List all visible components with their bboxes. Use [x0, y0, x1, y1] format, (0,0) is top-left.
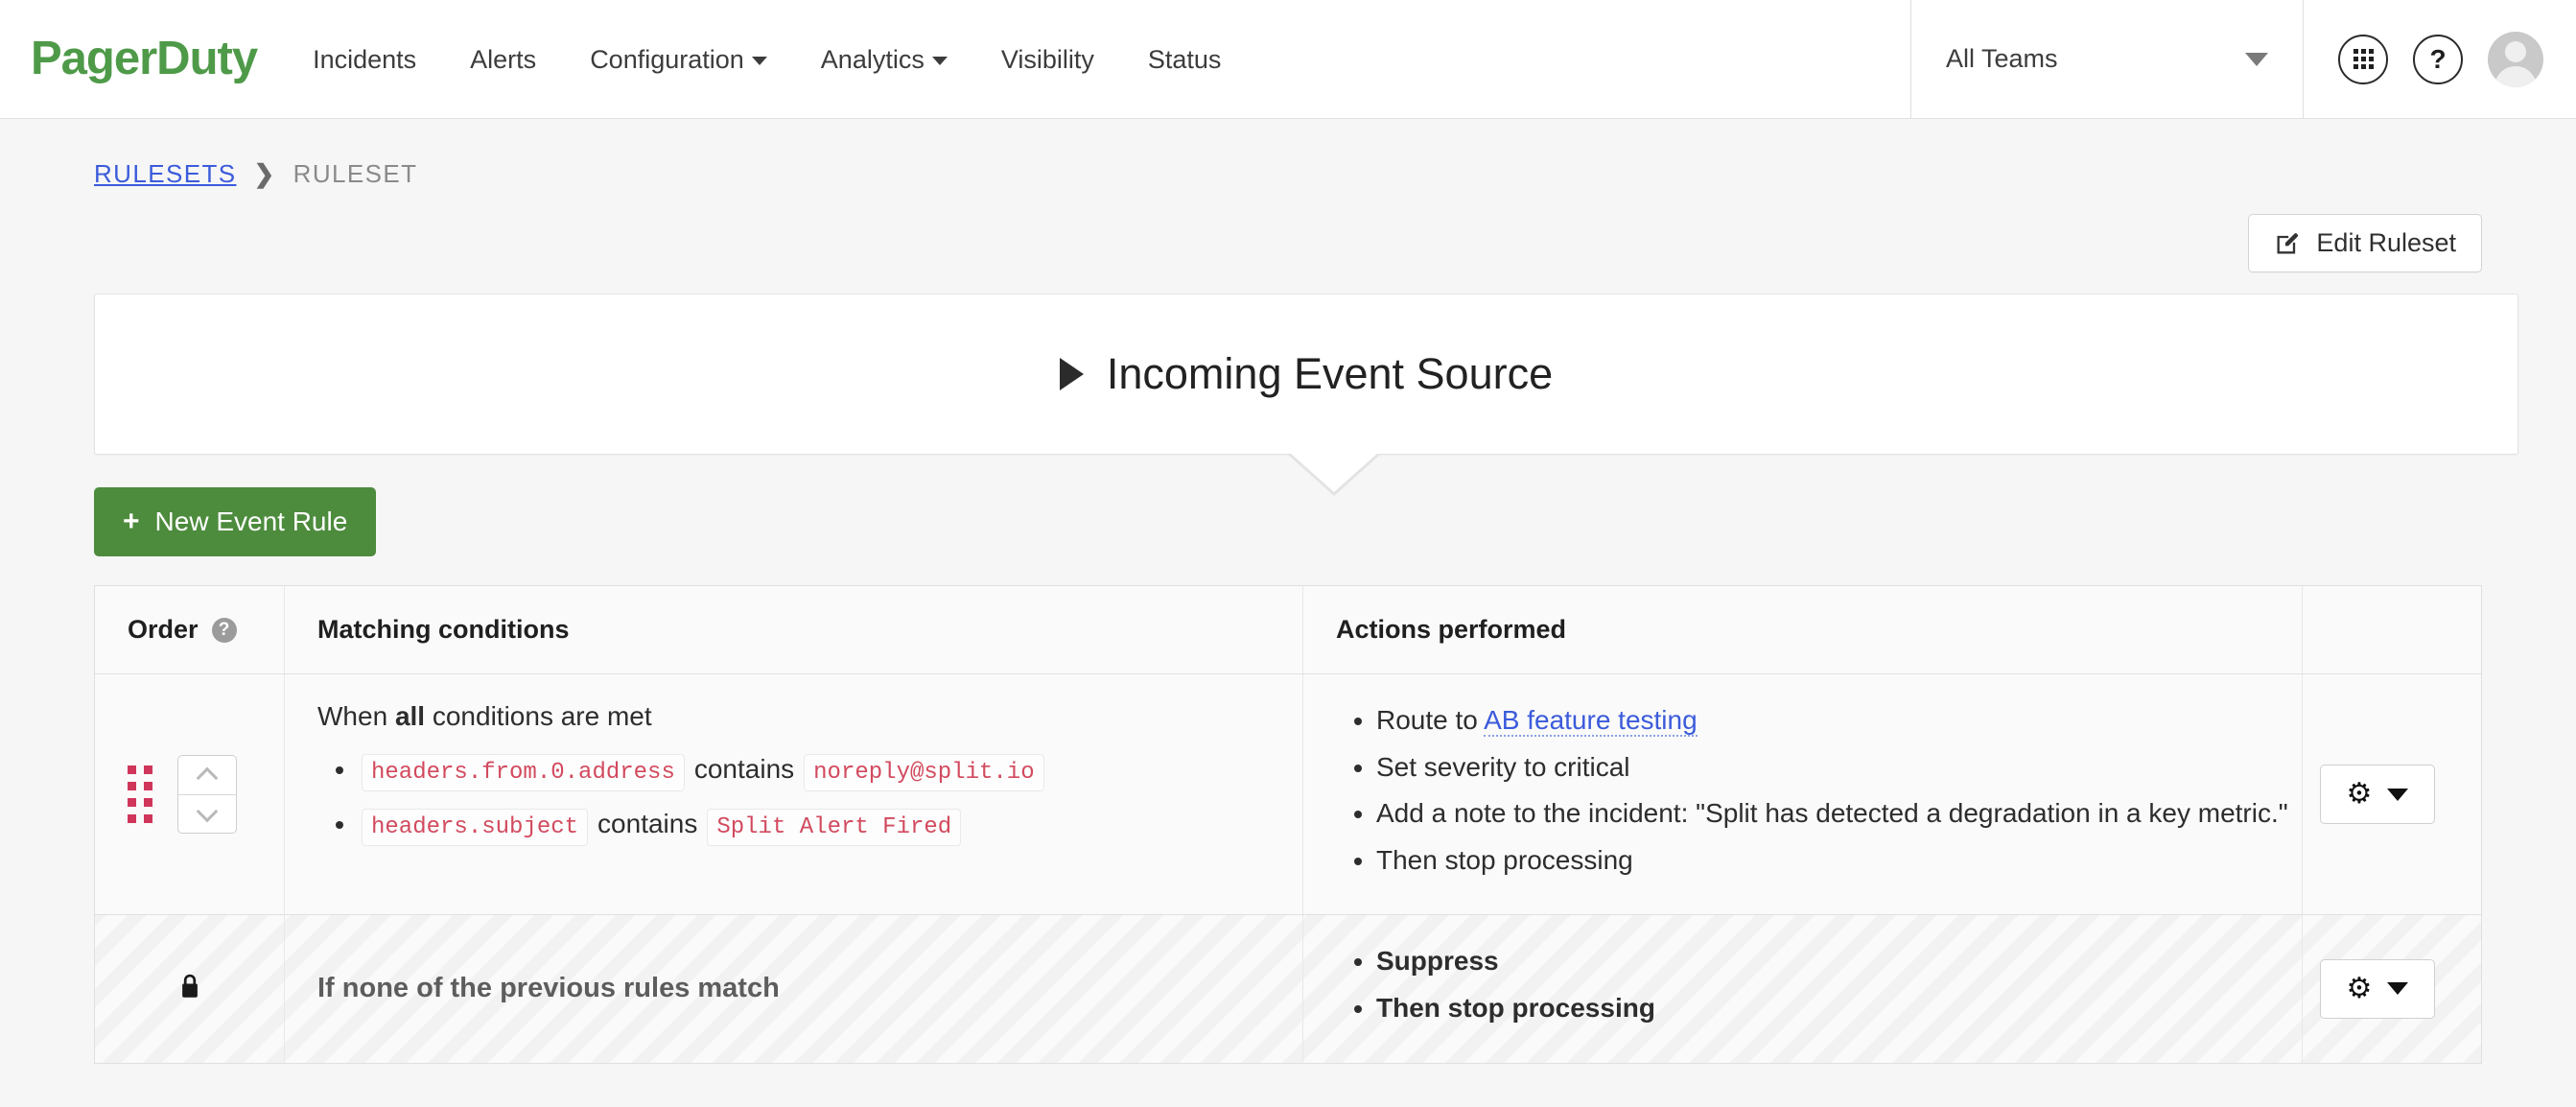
nav-item-configuration-label: Configuration — [590, 45, 744, 74]
table-header-row: Order ? Matching conditions Actions perf… — [95, 586, 2481, 674]
pencil-square-icon — [2274, 230, 2301, 257]
row-settings-menu-button[interactable]: ⚙ — [2320, 765, 2435, 824]
nav-item-visibility-label: Visibility — [1001, 45, 1094, 74]
event-rules-table: Order ? Matching conditions Actions perf… — [94, 585, 2482, 1064]
breadcrumb-link-rulesets[interactable]: RULESETS — [94, 159, 236, 189]
card-tail-fill — [1290, 453, 1378, 492]
condition-field: headers.from.0.address — [362, 754, 685, 791]
drag-handle-icon[interactable] — [128, 765, 152, 823]
nav-item-status-label: Status — [1148, 45, 1222, 74]
condition-value: noreply@split.io — [804, 754, 1043, 791]
gear-icon: ⚙ — [2347, 975, 2373, 1003]
grid-apps-icon — [2354, 49, 2374, 69]
incoming-event-source-toggle[interactable]: Incoming Event Source — [1060, 349, 1553, 399]
question-mark-icon: ? — [2429, 46, 2446, 73]
breadcrumb-current-ruleset: RULESET — [293, 159, 418, 189]
apps-grid-button[interactable] — [2338, 35, 2388, 84]
table-row: If none of the previous rules match Supp… — [95, 915, 2481, 1063]
nav-item-visibility[interactable]: Visibility — [974, 0, 1121, 119]
column-header-actions-performed: Actions performed — [1303, 586, 2303, 673]
chevron-down-icon — [932, 57, 948, 65]
row-menu-cell: ⚙ — [2303, 674, 2481, 914]
help-button[interactable]: ? — [2413, 35, 2463, 84]
matching-conditions-cell: When all conditions are met headers.from… — [285, 674, 1303, 914]
action-text: Route to — [1376, 705, 1484, 735]
nav-item-alerts[interactable]: Alerts — [443, 0, 563, 119]
list-item: headers.from.0.addresscontainsnoreply@sp… — [358, 749, 1302, 790]
column-header-actions-performed-label: Actions performed — [1336, 615, 1566, 645]
teams-filter-value: All Teams — [1946, 44, 2058, 74]
list-item: Then stop processing — [1376, 989, 2302, 1028]
caret-down-icon — [2387, 789, 2408, 801]
column-header-matching-conditions: Matching conditions — [285, 586, 1303, 673]
nav-item-incidents[interactable]: Incidents — [286, 0, 443, 119]
condition-operator: contains — [694, 754, 794, 784]
default-action-list: Suppress Then stop processing — [1336, 942, 2302, 1027]
caret-down-icon — [2387, 982, 2408, 995]
move-down-button[interactable] — [178, 794, 236, 833]
column-header-menu — [2303, 586, 2481, 673]
condition-field: headers.subject — [362, 809, 588, 846]
logo-container[interactable]: PagerDuty — [0, 0, 286, 118]
nav-item-configuration[interactable]: Configuration — [563, 0, 794, 119]
breadcrumb: RULESETS ❯ RULESET — [0, 119, 2576, 189]
teams-filter-dropdown[interactable]: All Teams — [1910, 0, 2304, 118]
condition-list: headers.from.0.addresscontainsnoreply@sp… — [317, 749, 1302, 845]
list-item: Set severity to critical — [1376, 748, 2302, 788]
chevron-down-icon — [752, 57, 767, 65]
default-row-settings-menu-button[interactable]: ⚙ — [2320, 959, 2435, 1019]
question-circle-icon[interactable]: ? — [212, 618, 237, 643]
toolbar: Edit Ruleset — [0, 214, 2576, 272]
column-header-order: Order ? — [95, 586, 285, 673]
actions-performed-cell: Route to AB feature testing Set severity… — [1303, 674, 2303, 914]
incoming-event-source-title: Incoming Event Source — [1107, 349, 1553, 399]
list-item: Suppress — [1376, 942, 2302, 981]
nav-item-analytics-label: Analytics — [821, 45, 925, 74]
chevron-right-icon: ❯ — [253, 159, 275, 189]
main-content: RULESETS ❯ RULESET Edit Ruleset Incoming… — [0, 119, 2576, 1064]
column-header-order-label: Order — [128, 615, 199, 645]
default-row-menu-cell: ⚙ — [2303, 915, 2481, 1062]
top-navigation-bar: PagerDuty Incidents Alerts Configuration… — [0, 0, 2576, 119]
plus-icon: + — [123, 507, 140, 536]
primary-nav-items: Incidents Alerts Configuration Analytics… — [286, 0, 1910, 118]
locked-order-cell — [95, 915, 285, 1062]
nav-item-analytics[interactable]: Analytics — [794, 0, 974, 119]
table-row: When all conditions are met headers.from… — [95, 674, 2481, 915]
lock-icon — [176, 971, 204, 1006]
move-up-button[interactable] — [178, 756, 236, 794]
condition-operator: contains — [597, 809, 697, 838]
gear-icon: ⚙ — [2347, 780, 2373, 809]
column-header-matching-conditions-label: Matching conditions — [317, 615, 570, 645]
new-event-rule-button[interactable]: + New Event Rule — [94, 487, 376, 556]
nav-item-alerts-label: Alerts — [470, 45, 536, 74]
nav-item-incidents-label: Incidents — [313, 45, 416, 74]
lock-icon-svg — [176, 971, 204, 1001]
chevron-up-icon — [197, 767, 219, 789]
action-list: Route to AB feature testing Set severity… — [1336, 701, 2302, 880]
order-cell — [95, 674, 285, 914]
edit-ruleset-button[interactable]: Edit Ruleset — [2248, 214, 2482, 272]
list-item: Route to AB feature testing — [1376, 701, 2302, 741]
edit-ruleset-label: Edit Ruleset — [2316, 228, 2456, 258]
route-target-link[interactable]: AB feature testing — [1484, 705, 1698, 737]
triangle-right-icon — [1060, 358, 1084, 390]
when-prefix: When — [317, 701, 395, 731]
pagerduty-logo[interactable]: PagerDuty — [31, 35, 257, 82]
nav-right-actions: ? — [2304, 0, 2576, 118]
list-item: headers.subjectcontainsSplit Alert Fired — [358, 804, 1302, 845]
when-suffix: conditions are met — [425, 701, 652, 731]
nav-item-status[interactable]: Status — [1121, 0, 1249, 119]
when-emphasis: all — [395, 701, 425, 731]
condition-value: Split Alert Fired — [707, 809, 961, 846]
default-rule-label: If none of the previous rules match — [285, 915, 1303, 1062]
list-item: Then stop processing — [1376, 841, 2302, 881]
default-actions-cell: Suppress Then stop processing — [1303, 915, 2303, 1062]
order-stepper[interactable] — [177, 755, 237, 834]
incoming-event-source-card-wrap: Incoming Event Source — [94, 294, 2518, 455]
chevron-down-icon — [2245, 53, 2268, 66]
when-conditions-line: When all conditions are met — [317, 701, 1302, 732]
new-event-rule-label: New Event Rule — [155, 506, 348, 537]
incoming-event-source-card: Incoming Event Source — [94, 294, 2518, 455]
chevron-down-icon — [197, 800, 219, 822]
list-item: Add a note to the incident: "Split has d… — [1376, 794, 2302, 834]
avatar[interactable] — [2488, 32, 2543, 87]
